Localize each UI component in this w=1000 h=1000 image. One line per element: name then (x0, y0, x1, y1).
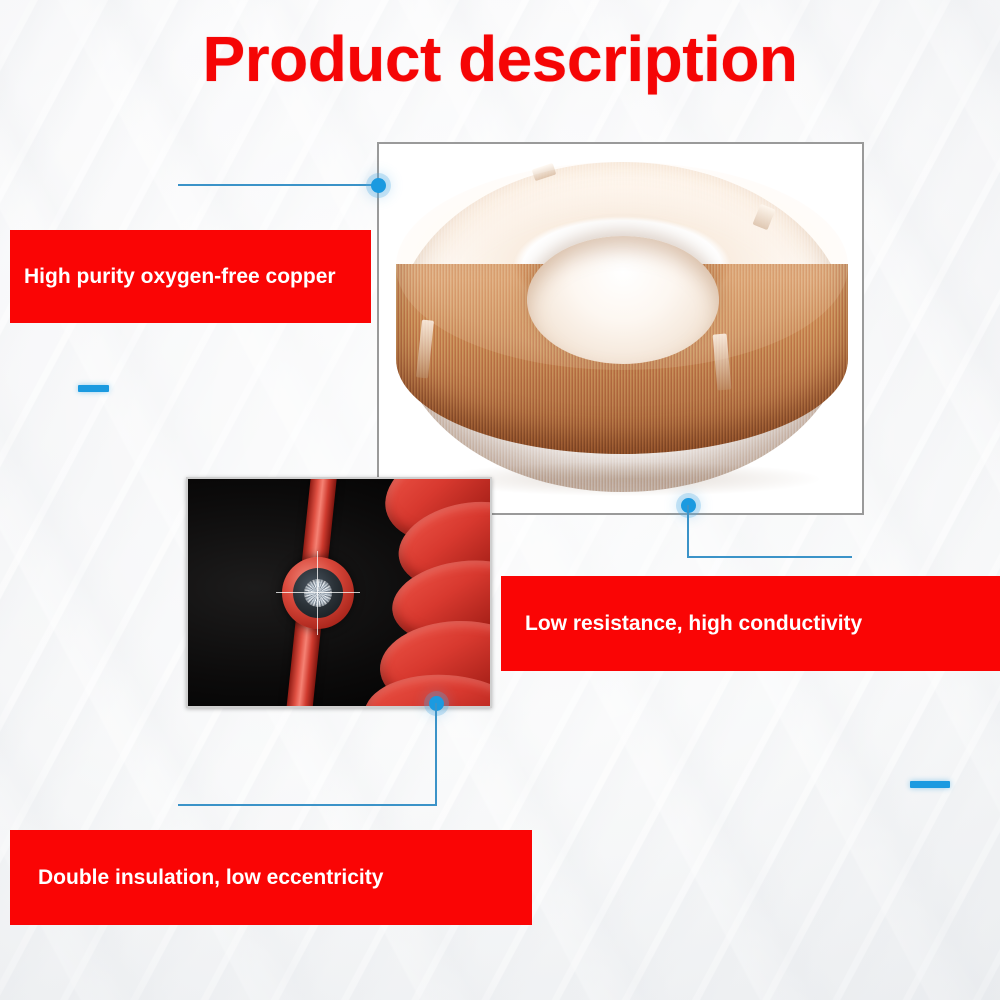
crosshair-icon (276, 592, 360, 593)
connector-line-insulation-vertical (435, 703, 437, 806)
crosshair-icon (317, 551, 318, 635)
connector-line-insulation-horizontal (178, 804, 437, 806)
connector-line-conductivity-horizontal (687, 556, 852, 558)
callout-label-low-resistance-high-conductivity: Low resistance, high conductivity (501, 576, 1000, 671)
callout-label-high-purity-oxygen-free-copper: High purity oxygen-free copper (10, 230, 371, 323)
red-cable-photo (186, 477, 492, 708)
page-title: Product description (0, 22, 1000, 96)
cable-copper-conductor (304, 579, 332, 607)
accent-dash-left (78, 385, 109, 392)
callout-label-text: High purity oxygen-free copper (24, 265, 336, 289)
copper-coil-photo (377, 142, 864, 515)
accent-dash-right (910, 781, 950, 788)
callout-label-text: Low resistance, high conductivity (525, 612, 862, 636)
marker-dot-copper-purity (371, 178, 386, 193)
coil-center-hole (527, 236, 719, 364)
callout-label-double-insulation-low-eccentricity: Double insulation, low eccentricity (10, 830, 532, 925)
connector-line-copper-purity (178, 184, 381, 186)
connector-line-conductivity-vertical (687, 505, 689, 557)
cable-cross-section (282, 557, 354, 629)
red-cable-image (188, 479, 490, 706)
copper-coil-image (379, 144, 862, 513)
callout-label-text: Double insulation, low eccentricity (38, 866, 383, 890)
cable-inner-insulation (293, 568, 343, 618)
product-description-banner: Product description (0, 0, 1000, 1000)
